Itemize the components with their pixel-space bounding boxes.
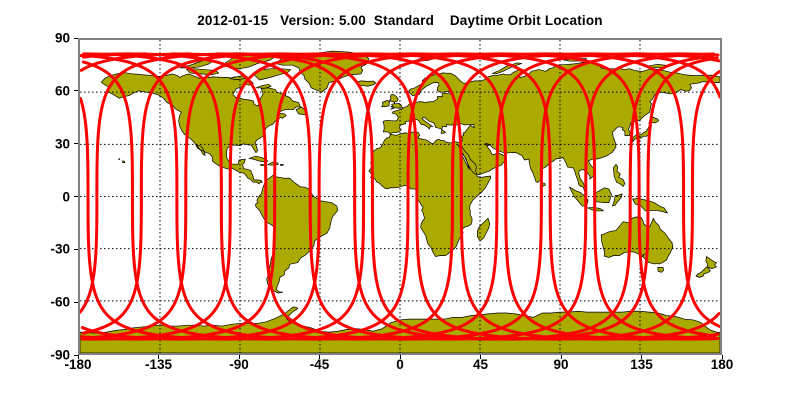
- x-axis-tick-label: 90: [553, 357, 568, 372]
- x-axis-tick: [239, 355, 240, 359]
- y-axis-tick-label: 90: [0, 31, 70, 46]
- x-axis-tick: [641, 355, 642, 359]
- x-axis-tick: [722, 355, 723, 359]
- world-map-with-orbit-tracks: [78, 38, 722, 355]
- orbit-location-figure: 2012-01-15 Version: 5.00 Standard Daytim…: [0, 0, 800, 400]
- x-axis-tick-label: 45: [473, 357, 488, 372]
- y-axis-tick: [74, 196, 78, 197]
- x-axis-tick: [158, 355, 159, 359]
- x-axis-tick-label: 0: [396, 357, 404, 372]
- x-axis-tick: [78, 355, 79, 359]
- y-axis-tick-label: 0: [0, 189, 70, 204]
- x-axis-tick-label: 180: [711, 357, 734, 372]
- page-title: 2012-01-15 Version: 5.00 Standard Daytim…: [0, 13, 800, 28]
- y-axis-tick-label: -30: [0, 242, 70, 257]
- x-axis-tick: [400, 355, 401, 359]
- map-frame: [78, 38, 722, 355]
- y-axis-tick: [74, 143, 78, 144]
- y-axis-tick: [74, 90, 78, 91]
- x-axis-tick-label: -45: [310, 357, 330, 372]
- x-axis-tick-label: -90: [229, 357, 249, 372]
- y-axis-tick-label: 30: [0, 136, 70, 151]
- orbit-track-descending-10: [679, 54, 718, 55]
- x-axis-tick: [319, 355, 320, 359]
- x-axis-tick: [561, 355, 562, 359]
- y-axis-tick-label: -90: [0, 348, 70, 363]
- x-axis-tick-label: -180: [64, 357, 91, 372]
- x-axis-tick-label: 135: [630, 357, 653, 372]
- y-axis-tick-label: 60: [0, 83, 70, 98]
- y-axis-tick: [74, 302, 78, 303]
- y-axis-tick: [74, 249, 78, 250]
- x-axis-tick: [480, 355, 481, 359]
- y-axis-tick-label: -60: [0, 295, 70, 310]
- y-axis-tick: [74, 38, 78, 39]
- x-axis-tick-label: -135: [145, 357, 172, 372]
- chart-plot-area: [78, 38, 722, 355]
